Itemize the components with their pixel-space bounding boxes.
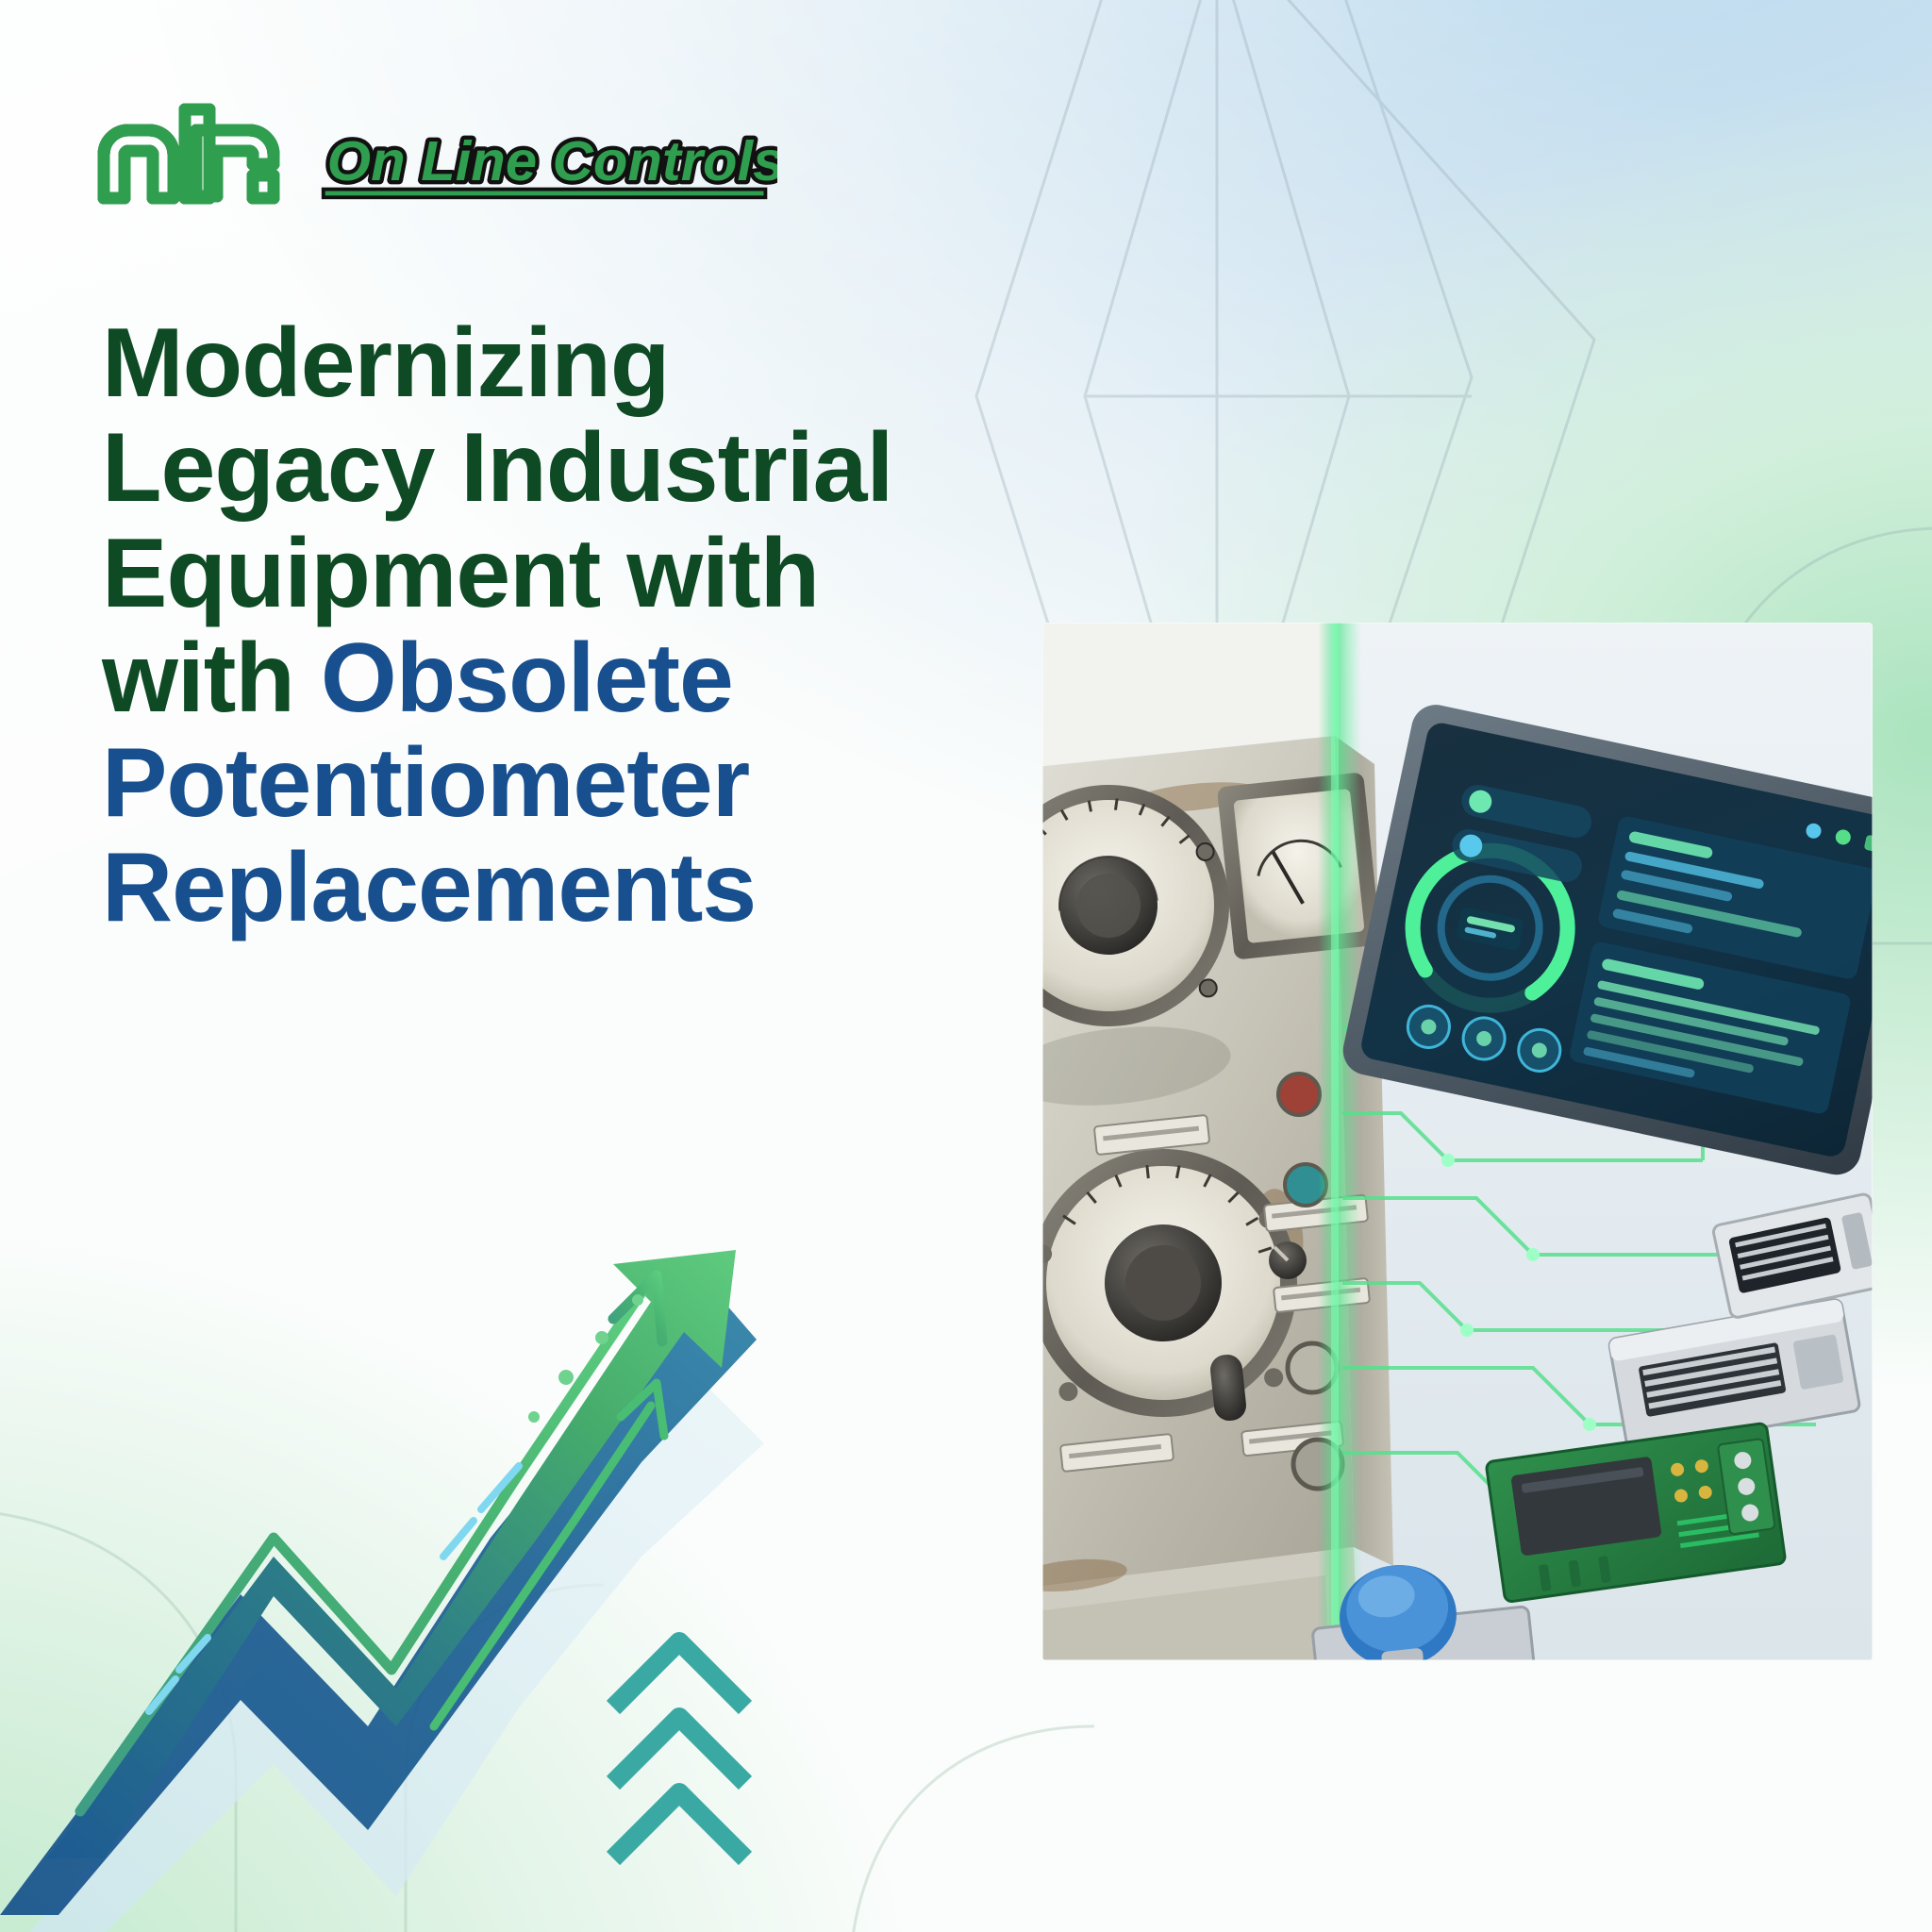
legacy-to-modern-photo: [1042, 623, 1873, 1660]
headline-line-6: Replacements: [102, 836, 932, 941]
brand-wordmark: On Line Controls Inc. On Line Controls I…: [315, 102, 777, 204]
wordmark-underline: [324, 190, 766, 198]
wordmark-fill: On Line Controls Inc.: [327, 129, 777, 192]
headline-line-4-blue: Obsolete: [321, 624, 733, 733]
headline-line-4: with Obsolete: [102, 626, 932, 731]
chevron-cluster: [613, 1641, 745, 1858]
headline-line-5: Potentiometer: [102, 731, 932, 836]
headline: Modernizing Legacy Industrial Equipment …: [102, 311, 932, 941]
poster-canvas: On Line Controls Inc. On Line Controls I…: [0, 0, 1932, 1932]
growth-arrows-graphic: [0, 1066, 802, 1932]
headline-line-2: Legacy Industrial: [102, 416, 932, 521]
transition-seam-line: [1331, 623, 1339, 1660]
brand-logo[interactable]: On Line Controls Inc. On Line Controls I…: [94, 102, 777, 204]
headline-line-3: Equipment with: [102, 522, 932, 626]
headline-line-4-green: with: [102, 624, 321, 733]
olc-monogram-icon: [94, 102, 294, 204]
transition-seam-glow: [1318, 623, 1361, 1660]
headline-line-1: Modernizing: [102, 311, 932, 416]
